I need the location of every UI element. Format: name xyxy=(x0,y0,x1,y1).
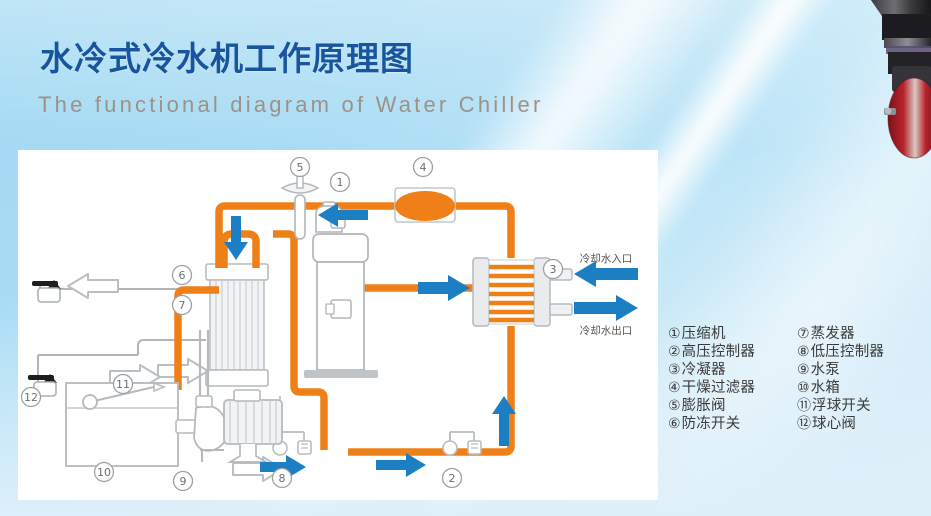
callout-10: 10 xyxy=(95,463,114,482)
cooling-water-arrows xyxy=(574,261,638,321)
legend-item: ⑨ 水泵 xyxy=(797,362,926,379)
svg-text:5: 5 xyxy=(297,161,304,174)
legend-label: 低压控制器 xyxy=(811,344,885,361)
svg-text:8: 8 xyxy=(279,472,286,485)
caster-wheel-photo xyxy=(826,0,931,175)
page-title: 水冷式冷水机工作原理图 xyxy=(40,32,414,80)
legend-item: ⑩ 水箱 xyxy=(797,380,926,397)
pump-inlet-flange xyxy=(196,396,212,407)
svg-text:1: 1 xyxy=(337,176,344,189)
legend-label: 蒸发器 xyxy=(811,326,855,343)
legend-item: ④ 干燥过滤器 xyxy=(668,380,791,397)
tank-outlet-flange xyxy=(176,420,196,433)
legend-item: ⑧ 低压控制器 xyxy=(797,344,926,361)
dryer-filter-symbol xyxy=(395,188,455,222)
callout-5: 5 xyxy=(291,158,310,177)
svg-text:3: 3 xyxy=(550,263,557,276)
callout-7: 7 xyxy=(173,296,192,315)
label-cooling-water-inlet: 冷却水入口 xyxy=(580,252,633,265)
svg-text:7: 7 xyxy=(179,299,186,312)
legend-number: ⑨ xyxy=(797,362,810,379)
schematic-panel: 冷却水入口 冷却水出口 5 4 3 6 7 1 11 xyxy=(18,150,658,500)
callout-9: 9 xyxy=(174,472,193,491)
svg-text:2: 2 xyxy=(449,472,456,485)
legend-item: ① 压缩机 xyxy=(668,326,791,343)
legend-item: ⑤ 膨胀阀 xyxy=(668,398,791,415)
legend-number: ⑪ xyxy=(797,398,811,415)
legend-item: ⑫ 球心阀 xyxy=(797,416,926,433)
legend-number: ④ xyxy=(668,380,681,397)
callout-1: 1 xyxy=(331,173,350,192)
legend-item: ⑦ 蒸发器 xyxy=(797,326,926,343)
slide-root: 水冷式冷水机工作原理图 The functional diagram of Wa… xyxy=(0,0,931,516)
svg-text:6: 6 xyxy=(179,269,186,282)
page-subtitle: The functional diagram of Water Chiller xyxy=(38,92,543,118)
legend-label: 压缩机 xyxy=(682,326,726,343)
callout-8: 8 xyxy=(273,469,292,488)
legend-label: 高压控制器 xyxy=(682,344,756,361)
legend-item: ⑪ 浮球开关 xyxy=(797,398,926,415)
svg-text:11: 11 xyxy=(116,378,130,391)
callout-4: 4 xyxy=(414,158,433,177)
legend-label: 球心阀 xyxy=(812,416,856,433)
legend-item: ② 高压控制器 xyxy=(668,344,791,361)
callout-11: 11 xyxy=(114,375,133,394)
legend-item: ⑥ 防冻开关 xyxy=(668,416,791,433)
callout-3: 3 xyxy=(544,260,563,279)
legend-number: ⑧ xyxy=(797,344,810,361)
legend-label: 水箱 xyxy=(811,380,840,397)
legend-label: 干燥过滤器 xyxy=(682,380,756,397)
legend-number: ⑩ xyxy=(797,380,810,397)
legend-label: 冷凝器 xyxy=(682,362,726,379)
legend-number: ② xyxy=(668,344,681,361)
label-cooling-water-outlet: 冷却水出口 xyxy=(580,324,633,337)
legend-number: ⑦ xyxy=(797,326,810,343)
callout-6: 6 xyxy=(173,266,192,285)
evaporator-unit xyxy=(206,264,268,386)
water-tank-unit xyxy=(66,383,178,466)
legend-number: ⑥ xyxy=(668,416,681,433)
ball-valve-symbol xyxy=(32,280,61,302)
legend-number: ⑤ xyxy=(668,398,681,415)
legend-label: 水泵 xyxy=(811,362,840,379)
svg-text:9: 9 xyxy=(180,475,187,488)
legend: ① 压缩机 ② 高压控制器 ③ 冷凝器 ④ 干燥过滤器 ⑤ 膨胀阀 ⑥ 防冻开关 xyxy=(668,326,926,433)
callout-12: 12 xyxy=(22,388,41,407)
legend-item: ③ 冷凝器 xyxy=(668,362,791,379)
legend-column-left: ① 压缩机 ② 高压控制器 ③ 冷凝器 ④ 干燥过滤器 ⑤ 膨胀阀 ⑥ 防冻开关 xyxy=(668,326,791,433)
legend-label: 浮球开关 xyxy=(812,398,871,415)
legend-label: 防冻开关 xyxy=(682,416,741,433)
svg-text:4: 4 xyxy=(420,161,427,174)
legend-label: 膨胀阀 xyxy=(682,398,726,415)
low-pressure-controller-symbol xyxy=(280,396,304,442)
svg-text:10: 10 xyxy=(97,466,111,479)
chiller-schematic: 冷却水入口 冷却水出口 5 4 3 6 7 1 11 xyxy=(18,150,658,500)
callout-2: 2 xyxy=(443,469,462,488)
svg-text:12: 12 xyxy=(24,391,38,404)
legend-number: ⑫ xyxy=(797,416,811,433)
legend-column-right: ⑦ 蒸发器 ⑧ 低压控制器 ⑨ 水泵 ⑩ 水箱 ⑪ 浮球开关 ⑫ 球心阀 xyxy=(797,326,926,433)
legend-number: ③ xyxy=(668,362,681,379)
legend-number: ① xyxy=(668,326,681,343)
